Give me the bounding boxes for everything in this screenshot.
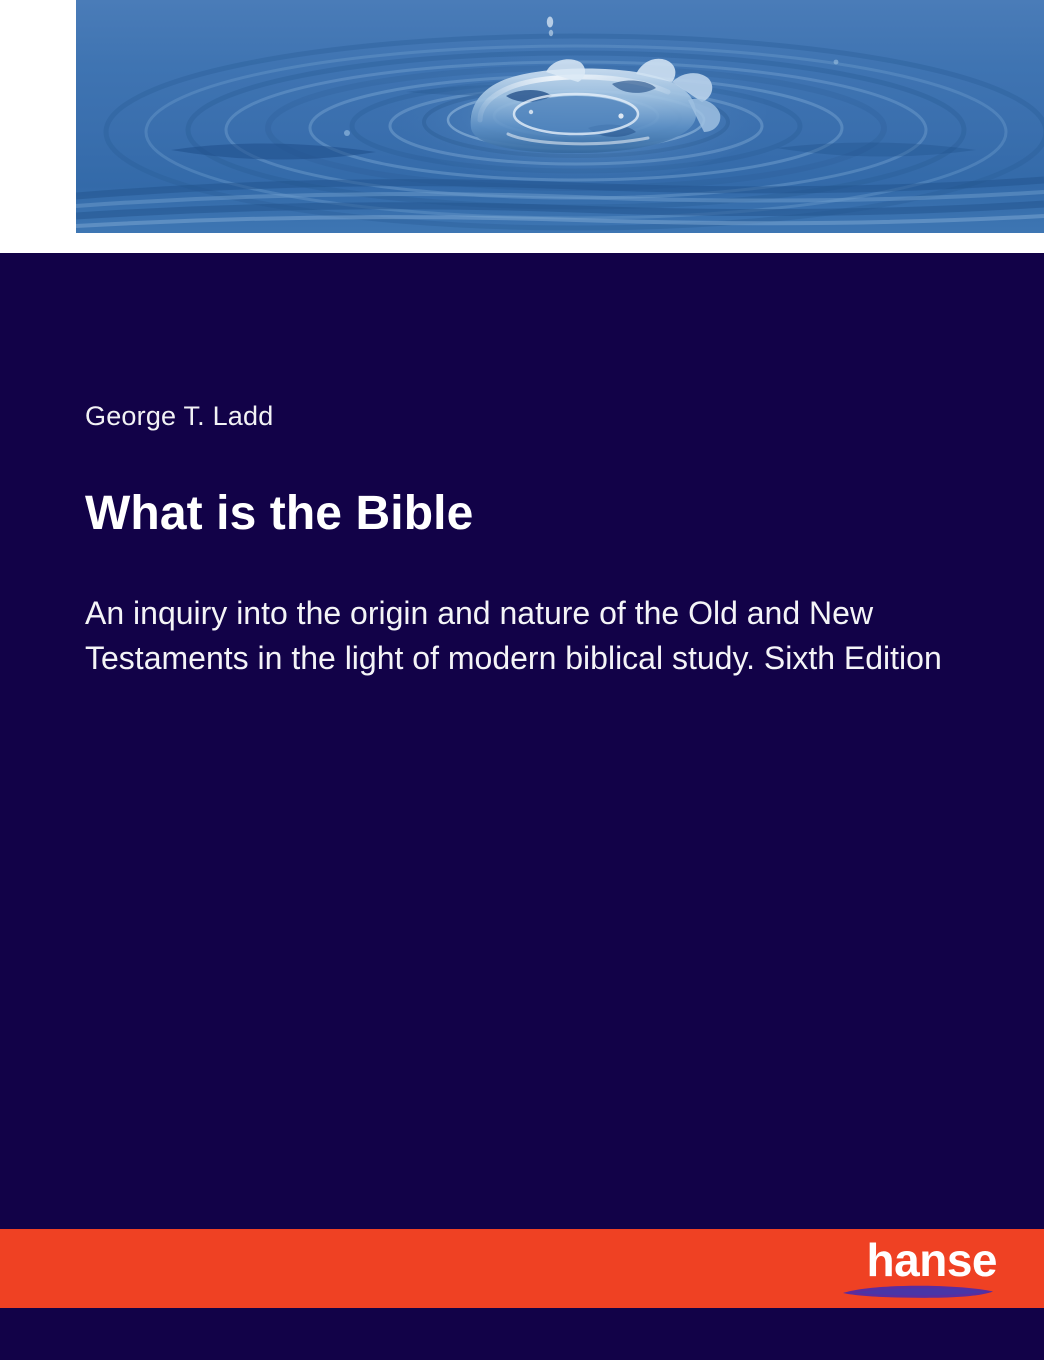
publisher-wordmark: hanse (837, 1234, 997, 1286)
publisher-logo: hanse (837, 1234, 997, 1304)
author-name: George T. Ladd (85, 399, 975, 433)
water-droplet-splash-photo (76, 0, 1044, 233)
cover-text-block: George T. Ladd What is the Bible An inqu… (85, 399, 975, 681)
book-subtitle: An inquiry into the origin and nature of… (85, 591, 965, 681)
book-cover: George T. Ladd What is the Bible An inqu… (0, 0, 1044, 1360)
book-title: What is the Bible (85, 485, 975, 543)
cover-navy-footer (0, 1308, 1044, 1360)
logo-swoosh-icon (841, 1284, 995, 1300)
